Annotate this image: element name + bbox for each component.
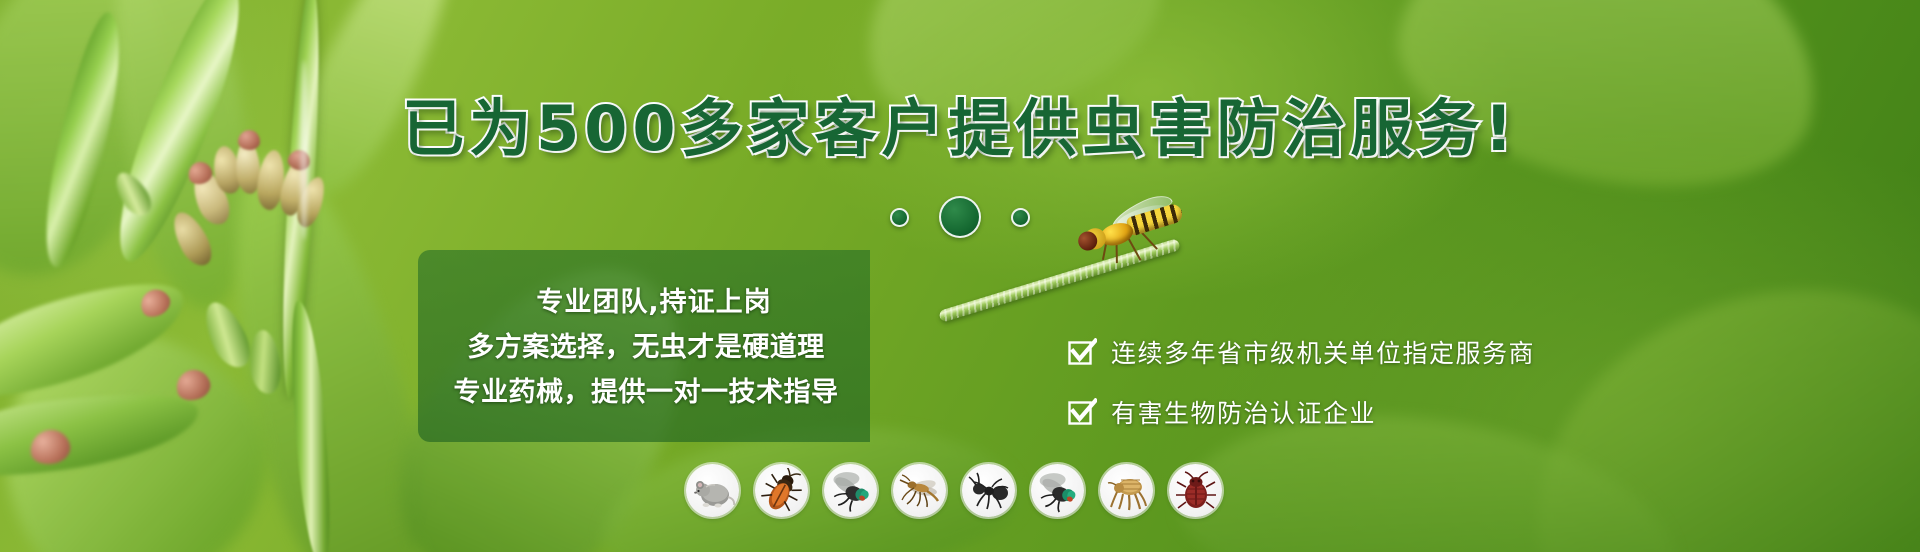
checkbox-checked-icon [1068, 338, 1097, 367]
fly-icon[interactable] [824, 464, 877, 517]
checkbox-checked-icon [1068, 398, 1097, 427]
decorative-dot-small-right [1011, 208, 1030, 227]
credential-label-2: 有害生物防治认证企业 [1111, 394, 1376, 430]
mouse-icon[interactable] [686, 464, 739, 517]
decorative-dot-small-left [890, 208, 909, 227]
promo-banner: 已为500多家客户提供虫害防治服务! 专业团队,持证上岗 多方案选择，无虫才是硬… [0, 0, 1920, 552]
selling-point-line-3: 专业药械，提供一对一技术指导 [444, 370, 848, 409]
credential-item-2: 有害生物防治认证企业 [1068, 394, 1535, 430]
blowfly-icon[interactable] [1031, 464, 1084, 517]
credential-label-1: 连续多年省市级机关单位指定服务商 [1111, 334, 1535, 370]
selling-points-box: 专业团队,持证上岗 多方案选择，无虫才是硬道理 专业药械，提供一对一技术指导 [418, 250, 870, 442]
decorative-dot-large-center [939, 196, 981, 238]
ant-icon[interactable] [962, 464, 1015, 517]
mosquito-icon[interactable] [893, 464, 946, 517]
decorative-dots [0, 196, 1920, 238]
pest-icons-row [686, 464, 1222, 517]
credential-item-1: 连续多年省市级机关单位指定服务商 [1068, 334, 1535, 370]
bedbug-icon[interactable] [1169, 464, 1222, 517]
cockroach-icon[interactable] [755, 464, 808, 517]
banner-headline-text: 已为500多家客户提供虫害防治服务! [402, 92, 1518, 165]
flea-icon[interactable] [1100, 464, 1153, 517]
selling-point-line-1: 专业团队,持证上岗 [444, 280, 848, 319]
credentials-checklist: 连续多年省市级机关单位指定服务商 有害生物防治认证企业 [1068, 334, 1535, 430]
selling-point-line-2: 多方案选择，无虫才是硬道理 [444, 325, 848, 364]
banner-headline: 已为500多家客户提供虫害防治服务! [0, 78, 1920, 168]
